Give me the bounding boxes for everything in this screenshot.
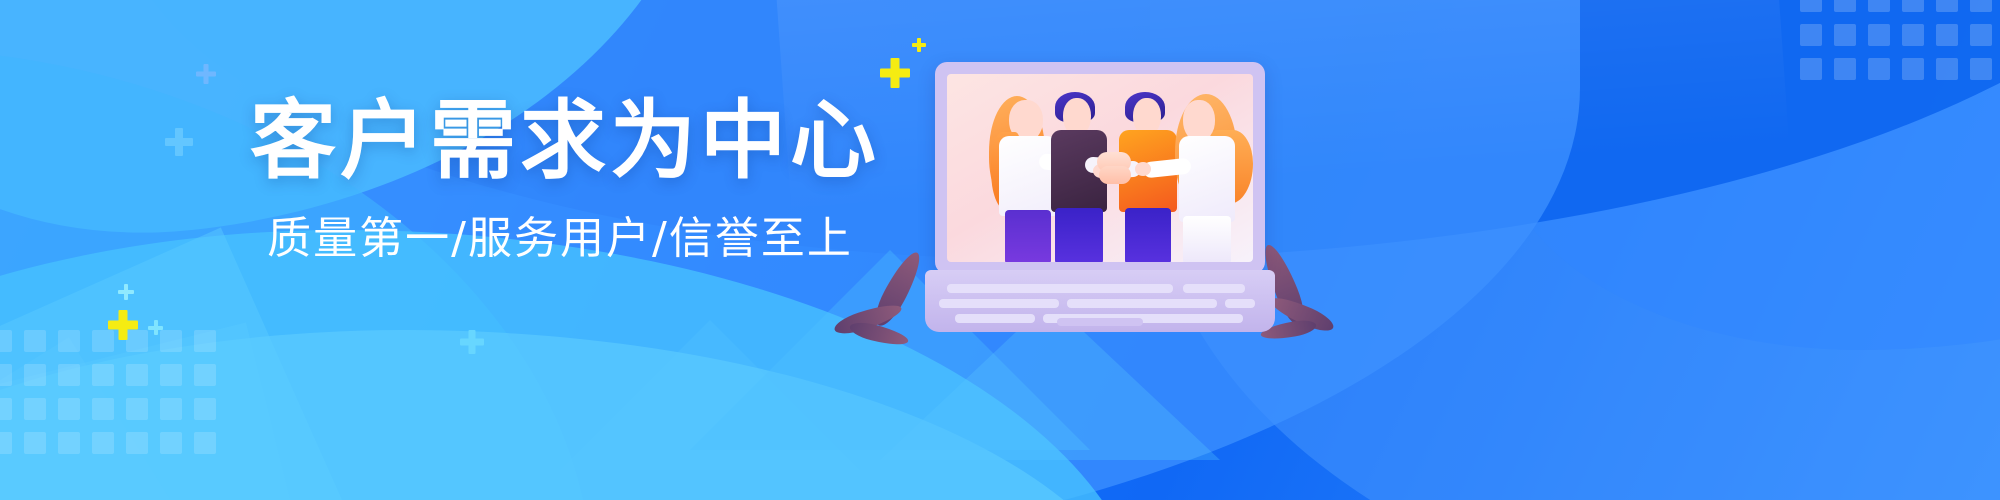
- grid-dot: [194, 364, 216, 386]
- cross-yellow-large-icon: [880, 58, 910, 88]
- grid-dot: [58, 364, 80, 386]
- grid-dot: [58, 398, 80, 420]
- grid-dot: [24, 330, 46, 352]
- grid-dot: [0, 432, 12, 454]
- grid-dot: [1868, 24, 1890, 46]
- grid-dot: [160, 432, 182, 454]
- grid-dot: [194, 330, 216, 352]
- grid-dot: [92, 398, 114, 420]
- grid-dot: [160, 330, 182, 352]
- grid-dot: [92, 432, 114, 454]
- laptop-trackpad: [1057, 318, 1143, 326]
- cross-yellow-bottom-icon: [108, 310, 138, 340]
- grid-dot: [0, 398, 12, 420]
- grid-dot: [24, 398, 46, 420]
- grid-dot: [194, 432, 216, 454]
- grid-dot: [1834, 58, 1856, 80]
- banner-subheadline: 质量第一/服务用户/信誉至上: [250, 213, 870, 266]
- grid-dot: [160, 398, 182, 420]
- grid-dot: [0, 330, 12, 352]
- grid-dot: [24, 432, 46, 454]
- cross-lightblue-upper-icon: [196, 64, 216, 84]
- bg-facet-3: [0, 337, 185, 500]
- keyboard-key: [947, 284, 1173, 293]
- grid-dot: [1936, 58, 1958, 80]
- grid-dot: [1902, 24, 1924, 46]
- grid-dot: [126, 364, 148, 386]
- banner-headline: 客户需求为中心: [250, 96, 870, 187]
- cross-lightblue-lower-icon: [165, 128, 193, 156]
- grid-dot: [126, 432, 148, 454]
- grid-dot: [1936, 24, 1958, 46]
- grid-dot: [92, 330, 114, 352]
- cross-cyan-bottom-icon: [148, 320, 163, 335]
- bg-wave-right-soft: [1150, 0, 2000, 500]
- promo-banner: 客户需求为中心 质量第一/服务用户/信誉至上: [0, 0, 2000, 500]
- grid-dot: [126, 398, 148, 420]
- grid-dot: [1834, 24, 1856, 46]
- bg-facet-1: [0, 228, 343, 500]
- grid-dot: [58, 432, 80, 454]
- bg-facet-2: [0, 322, 304, 500]
- banner-text-block: 客户需求为中心 质量第一/服务用户/信誉至上: [250, 96, 870, 266]
- grid-dot: [1902, 0, 1924, 12]
- keyboard-key: [939, 299, 1059, 308]
- grid-dot: [1800, 58, 1822, 80]
- grid-dot: [194, 398, 216, 420]
- grid-dot: [1970, 58, 1992, 80]
- grid-dot: [1868, 58, 1890, 80]
- grid-dot: [1936, 0, 1958, 12]
- keyboard-key: [1183, 284, 1245, 293]
- grid-dot: [0, 364, 12, 386]
- grid-dot: [126, 330, 148, 352]
- grid-dot: [1800, 24, 1822, 46]
- grid-dot: [160, 364, 182, 386]
- grid-dot: [1800, 0, 1822, 12]
- grid-dot: [24, 364, 46, 386]
- cross-cyan-lower-mid-icon: [460, 330, 484, 354]
- keyboard-key: [1225, 299, 1255, 308]
- grid-dot: [1868, 0, 1890, 12]
- keyboard-key: [1067, 299, 1217, 308]
- grid-dot: [58, 330, 80, 352]
- cross-yellow-small-icon: [912, 38, 926, 52]
- laptop-screen: [947, 74, 1253, 262]
- bg-sheen: [771, 0, 1789, 215]
- grid-dot: [92, 364, 114, 386]
- laptop-lid: [935, 62, 1265, 274]
- bg-wave-bottom-light: [0, 330, 1150, 500]
- stacked-hands-2: [1099, 166, 1131, 184]
- bg-mountain-3: [560, 320, 860, 470]
- grid-dot: [1902, 58, 1924, 80]
- grid-dot: [1970, 24, 1992, 46]
- grid-dot: [1970, 0, 1992, 12]
- cross-cyan-mid-icon: [118, 284, 134, 300]
- grid-dot: [1834, 0, 1856, 12]
- bg-wave-right-deep: [1500, 0, 2000, 350]
- keyboard-key: [955, 314, 1035, 323]
- laptop-illustration: [925, 62, 1275, 342]
